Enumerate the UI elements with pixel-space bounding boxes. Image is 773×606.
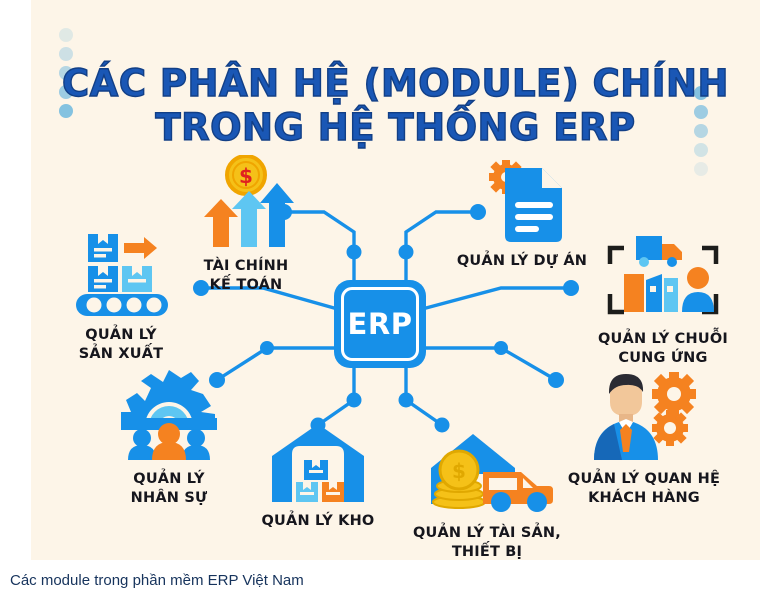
module-label: QUẢN LÝ SẢN XUẤT [46,326,196,364]
module-quan-ly-san-xuat[interactable]: QUẢN LÝ SẢN XUẤT [46,228,196,364]
svg-text:$: $ [452,459,466,483]
module-quan-ly-chuoi-cung-ung[interactable]: QUẢN LÝ CHUỖI CUNG ỨNG [573,228,753,368]
module-quan-ly-kho[interactable]: QUẢN LÝ KHO [243,420,393,531]
businessman-gears-icon [549,372,739,465]
erp-center-chip[interactable]: ERP [334,280,426,368]
truck-factory-person-icon [573,228,753,325]
module-label: QUẢN LÝ TÀI SẢN, THIẾT BỊ [397,524,577,560]
module-label: QUẢN LÝ NHÂN SỰ [89,470,249,508]
module-quan-ly-quan-he-khach-hang[interactable]: QUẢN LÝ QUAN HỆ KHÁCH HÀNG [549,372,739,508]
erp-label: ERP [348,307,413,341]
conveyor-boxes-icon [46,228,196,321]
house-coins-car-icon: $ [397,432,577,519]
svg-text:$: $ [239,164,253,188]
erp-infographic: CÁC PHÂN HỆ (MODULE) CHÍNH TRONG HỆ THỐN… [31,0,760,560]
module-label: QUẢN LÝ KHO [243,512,393,531]
module-label: QUẢN LÝ CHUỖI CUNG ỨNG [573,330,753,368]
image-caption: Các module trong phần mềm ERP Việt Nam [10,572,304,589]
warehouse-boxes-icon [243,420,393,507]
module-quan-ly-tai-san-thiet-bi[interactable]: $ QUẢN LÝ TÀI SẢN, THIẾT BỊ [397,432,577,560]
module-label: QUẢN LÝ QUAN HỆ KHÁCH HÀNG [549,470,739,508]
module-quan-ly-nhan-su[interactable]: QUẢN LÝ NHÂN SỰ [89,368,249,508]
chip-inner-frame: ERP [341,287,419,361]
gear-people-icon [89,368,249,465]
